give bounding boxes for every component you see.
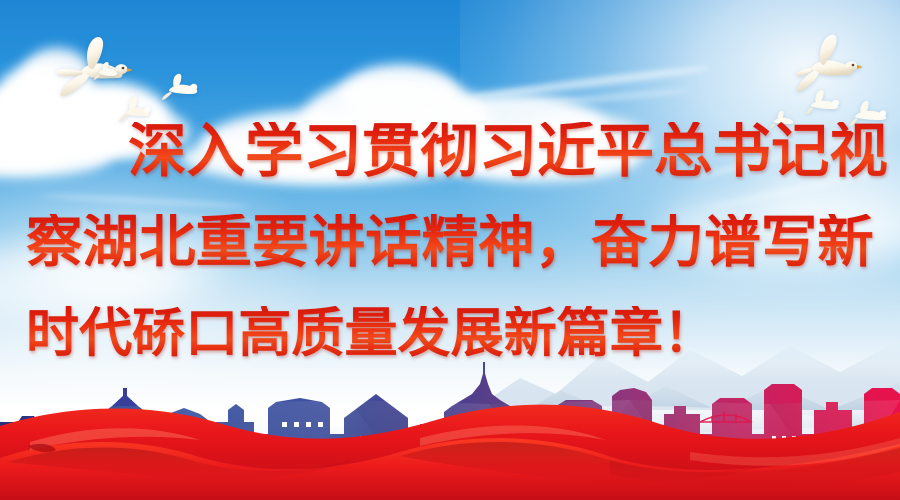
- propaganda-banner: 深入学习贯彻习近平总书记视 察湖北重要讲话精神，奋力谱写新 时代硚口高质量发展新…: [0, 0, 900, 500]
- sky-background: [0, 0, 900, 500]
